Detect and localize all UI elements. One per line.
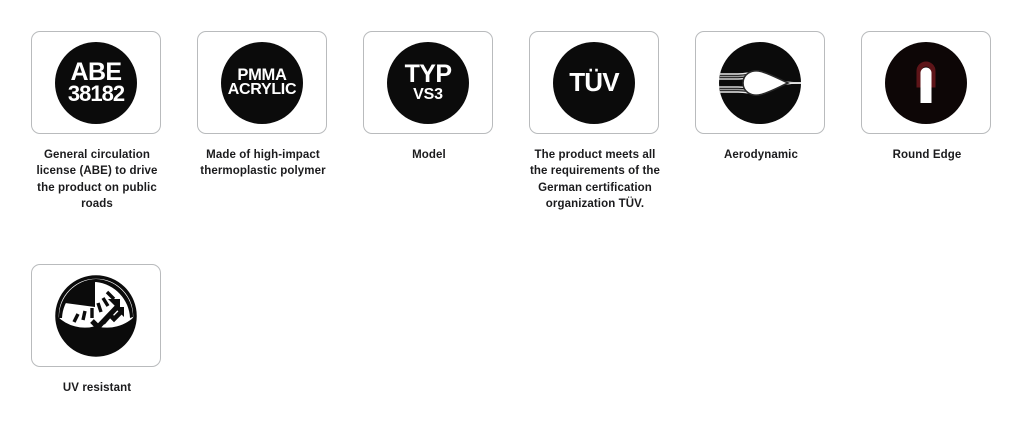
feature-caption-round-edge: Round Edge [861,147,993,163]
uv-resistant-sun-icon [54,274,138,358]
feature-item-model: TYP VS3 Model [363,31,495,163]
feature-caption-tuv: The product meets all the requirements o… [529,147,661,212]
typ-badge-line1: TYP [405,63,452,86]
abe-badge-line2: 38182 [68,84,124,104]
feature-caption-aerodynamic: Aerodynamic [695,147,827,163]
badge-card-aerodynamic [695,31,825,134]
badge-card-uv [31,264,161,367]
feature-item-aerodynamic: Aerodynamic [695,31,827,163]
badge-card-abe: ABE 38182 [31,31,161,134]
feature-caption-uv: UV resistant [31,380,163,396]
badge-card-pmma: PMMA ACRYLIC [197,31,327,134]
tuv-badge-line1: TÜV [569,71,619,95]
pmma-badge-line2: ACRYLIC [228,83,296,98]
round-edge-profile-icon [884,41,968,125]
feature-badge-board: ABE 38182 General circulation license (A… [0,0,1024,423]
pmma-acrylic-badge-icon: PMMA ACRYLIC [221,42,303,124]
feature-item-round-edge: Round Edge [861,31,993,163]
feature-item-pmma: PMMA ACRYLIC Made of high-impact thermop… [197,31,329,180]
feature-caption-model: Model [363,147,495,163]
feature-item-uv: UV resistant [31,264,163,396]
badge-card-tuv: TÜV [529,31,659,134]
typ-badge-line2: VS3 [413,88,443,103]
feature-caption-abe: General circulation license (ABE) to dri… [31,147,163,212]
badge-card-model: TYP VS3 [363,31,493,134]
tuv-certification-badge-icon: TÜV [553,42,635,124]
airfoil-streamline-icon [718,41,802,125]
feature-item-tuv: TÜV The product meets all the requiremen… [529,31,661,212]
badge-card-round-edge [861,31,991,134]
typ-vs3-badge-icon: TYP VS3 [387,42,469,124]
feature-item-abe: ABE 38182 General circulation license (A… [31,31,163,212]
feature-caption-pmma: Made of high-impact thermoplastic polyme… [197,147,329,180]
abe-approval-badge-icon: ABE 38182 [55,42,137,124]
